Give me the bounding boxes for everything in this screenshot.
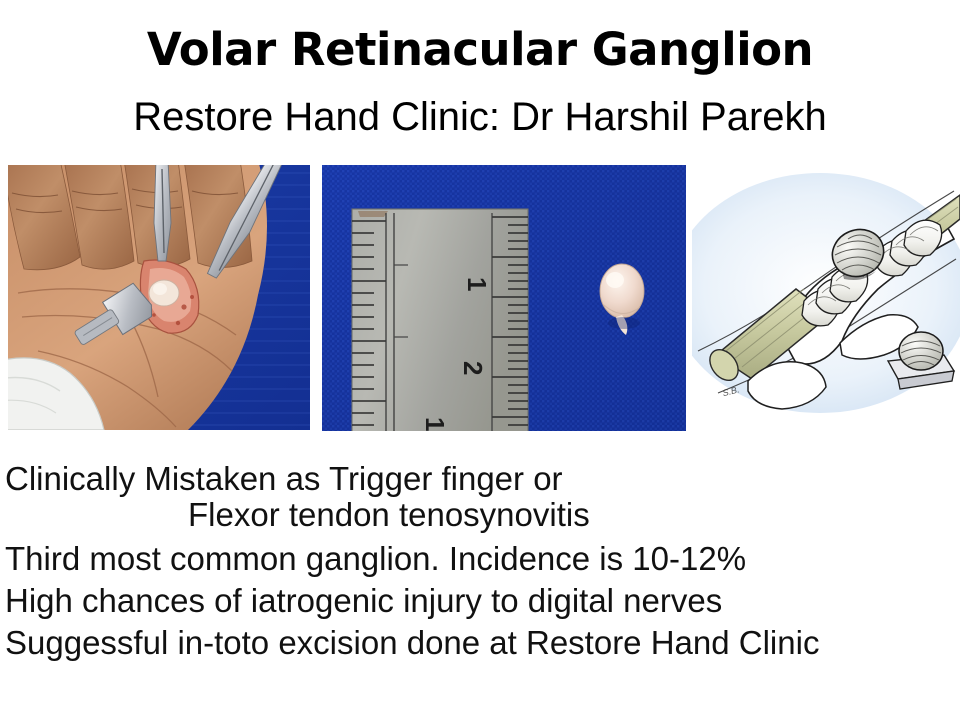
specimen-ruler-photo: 1 2 1 xyxy=(322,165,686,431)
body-text-block: Clinically Mistaken as Trigger finger or… xyxy=(0,462,960,659)
body-line-2: Flexor tendon tenosynovitis xyxy=(0,498,960,531)
body-line-4: High chances of iatrogenic injury to dig… xyxy=(0,584,960,617)
svg-text:1: 1 xyxy=(462,277,492,291)
image-panel-row: 1 2 1 xyxy=(0,165,960,435)
slide-root: Volar Retinacular Ganglion Restore Hand … xyxy=(0,0,960,720)
intraoperative-photo xyxy=(8,165,310,430)
body-line-3: Third most common ganglion. Incidence is… xyxy=(0,542,960,575)
svg-text:2: 2 xyxy=(458,361,488,375)
page-subtitle: Restore Hand Clinic: Dr Harshil Parekh xyxy=(0,95,960,139)
svg-text:1: 1 xyxy=(420,417,450,431)
body-line-5: Suggessful in-toto excision done at Rest… xyxy=(0,626,960,659)
page-title: Volar Retinacular Ganglion xyxy=(0,26,960,73)
body-line-1: Clinically Mistaken as Trigger finger or xyxy=(0,462,960,495)
retinacular-ganglion-illustration: S.B. xyxy=(692,165,960,430)
